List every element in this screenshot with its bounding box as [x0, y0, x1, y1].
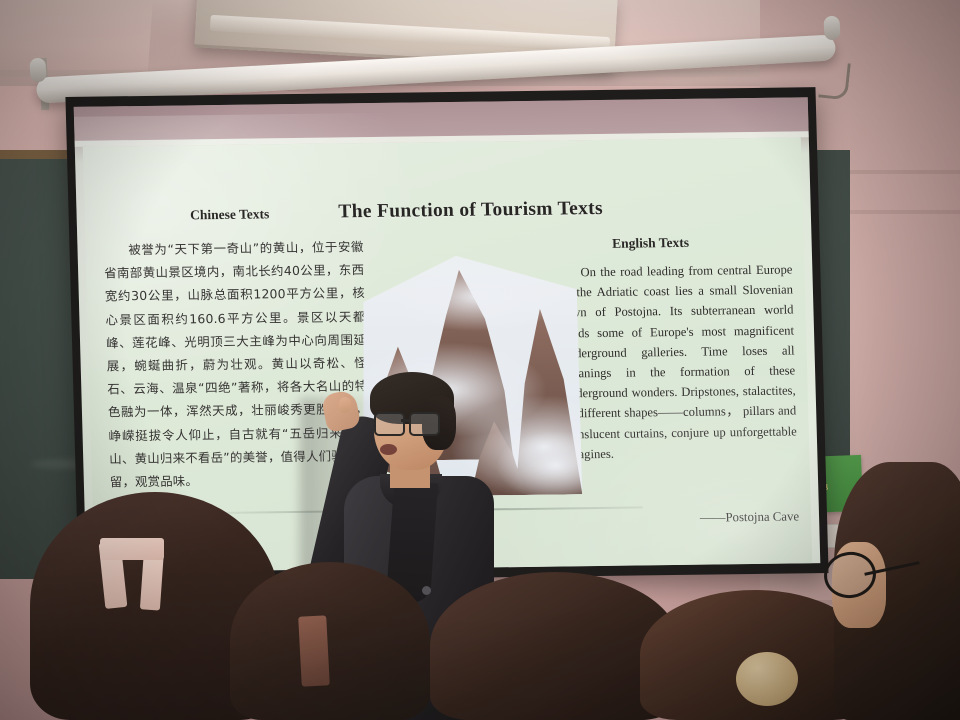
list-item	[230, 560, 430, 720]
hair-clip-top	[100, 538, 164, 560]
hair-accessory	[298, 615, 330, 686]
eyeglasses-icon	[374, 412, 440, 432]
slide-title: The Function of Tourism Texts	[320, 198, 621, 224]
english-texts-heading: English Texts	[565, 234, 735, 252]
chinese-texts-heading: Chinese Texts	[144, 206, 314, 224]
eyeglass-lens-left	[374, 412, 405, 436]
classroom-photo: 安全 用电 红叶牌 The Function of Tourism Texts …	[0, 0, 960, 720]
list-item	[824, 460, 960, 720]
english-texts-attribution: ——Postojna Cave	[567, 509, 799, 527]
english-texts-body: On the road leading from central Europe …	[560, 259, 797, 464]
student-hair	[230, 562, 430, 720]
roller-cap-right	[823, 16, 840, 41]
eyeglass-lens-right	[409, 412, 440, 436]
teacher-finger	[338, 396, 353, 414]
hair-scrunchie	[736, 652, 798, 706]
teacher-mouth	[380, 444, 397, 455]
eyeglass-bridge	[401, 419, 409, 422]
roller-cap-left	[29, 58, 46, 83]
